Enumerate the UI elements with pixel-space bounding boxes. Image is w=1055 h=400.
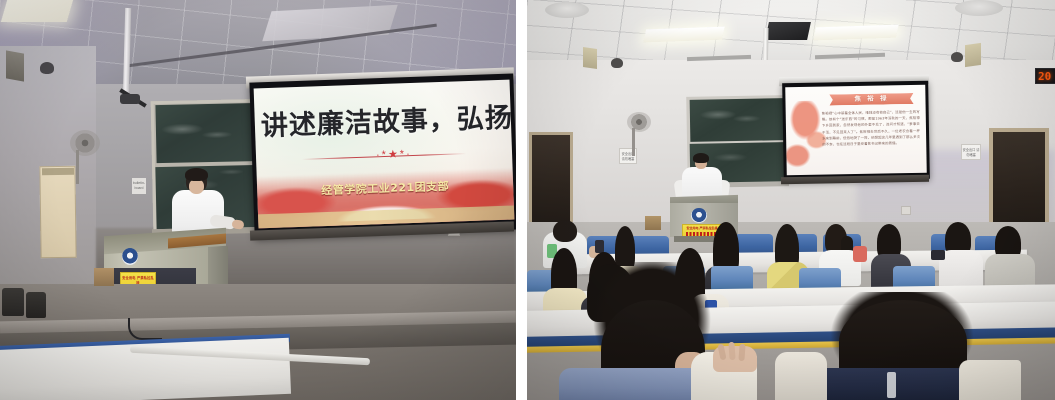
slide-banner-title: 焦 裕 禄 [829, 94, 913, 104]
wall-speaker [583, 47, 597, 69]
star-icon: ·*★*· [376, 149, 412, 161]
safety-warning-sticker-text: 安全用电 严禁私拉乱接 [683, 226, 721, 230]
left-photo: bulletin-board 讲述廉洁故事，弘扬清风正气 ·*★*· 经管学院工… [0, 0, 516, 400]
smartphone [931, 250, 945, 260]
wall-fan-pole [632, 128, 635, 156]
photo-collage: bulletin-board 讲述廉洁故事，弘扬清风正气 ·*★*· 经管学院工… [0, 0, 1055, 400]
presenter-hair [693, 153, 709, 163]
foreground-student-sleeve [959, 360, 1021, 400]
speaker-hair [185, 168, 208, 181]
speaker-face [189, 179, 204, 194]
trash-bin [2, 288, 24, 316]
right-photo: 20 安全出口 请勿堵塞 安全出口 请勿堵塞 焦 裕 禄 焦裕禄“心中装着全体人… [527, 0, 1055, 400]
collage-gutter [516, 0, 527, 400]
school-emblem-icon [691, 208, 707, 223]
school-emblem-icon [122, 248, 138, 265]
wall-fan [627, 112, 651, 132]
lanyard [887, 372, 896, 398]
wall-fan [70, 130, 100, 156]
wall-fan-pole [76, 150, 79, 184]
power-cable [128, 318, 162, 340]
wall-speaker [6, 50, 24, 81]
projection-screen: 讲述廉洁故事，弘扬清风正气 ·*★*· 经管学院工业221团支部 [254, 80, 515, 229]
finger [728, 342, 735, 360]
cctv-camera-icon [951, 52, 963, 62]
wall-speaker [965, 43, 981, 67]
foreground-student-sleeve [775, 352, 827, 400]
wall-sign: bulletin-board [132, 178, 146, 194]
ceiling-light-fixture [1, 0, 73, 22]
finger [738, 344, 745, 361]
seat[interactable] [711, 266, 753, 290]
classroom-door[interactable] [529, 132, 573, 232]
ceiling-vent [765, 22, 811, 40]
cardboard-box [94, 268, 114, 286]
student-head [553, 220, 577, 242]
bulletin-board-rail [42, 168, 74, 175]
wall-sign: 安全出口 请勿堵塞 [961, 144, 981, 160]
cctv-camera-icon [40, 62, 54, 74]
chalkboard-upper-panel [155, 103, 264, 163]
slide-body-text: 焦裕禄“心中装着全体人民，唯独没有他自己”，这是他一生的写照。他有个“送东西”的… [822, 109, 921, 148]
trash-bin [26, 292, 46, 318]
ceiling-dome-fixture [545, 2, 589, 18]
ceiling-dome-fixture [955, 0, 1003, 16]
cardboard-box [645, 216, 661, 230]
student-torso [939, 250, 983, 290]
led-clock-display: 20 [1035, 68, 1055, 84]
bag [853, 246, 867, 262]
slide-decorative-swirl [785, 101, 826, 172]
wall-outlet [901, 206, 911, 215]
led-clock-text: 20 [1038, 70, 1051, 83]
projection-screen: 焦 裕 禄 焦裕禄“心中装着全体人民，唯独没有他自己”，这是他一生的写照。他有个… [785, 85, 927, 175]
bulletin-board [39, 166, 76, 258]
cctv-camera-icon [611, 58, 623, 68]
projector-icon [120, 94, 140, 104]
